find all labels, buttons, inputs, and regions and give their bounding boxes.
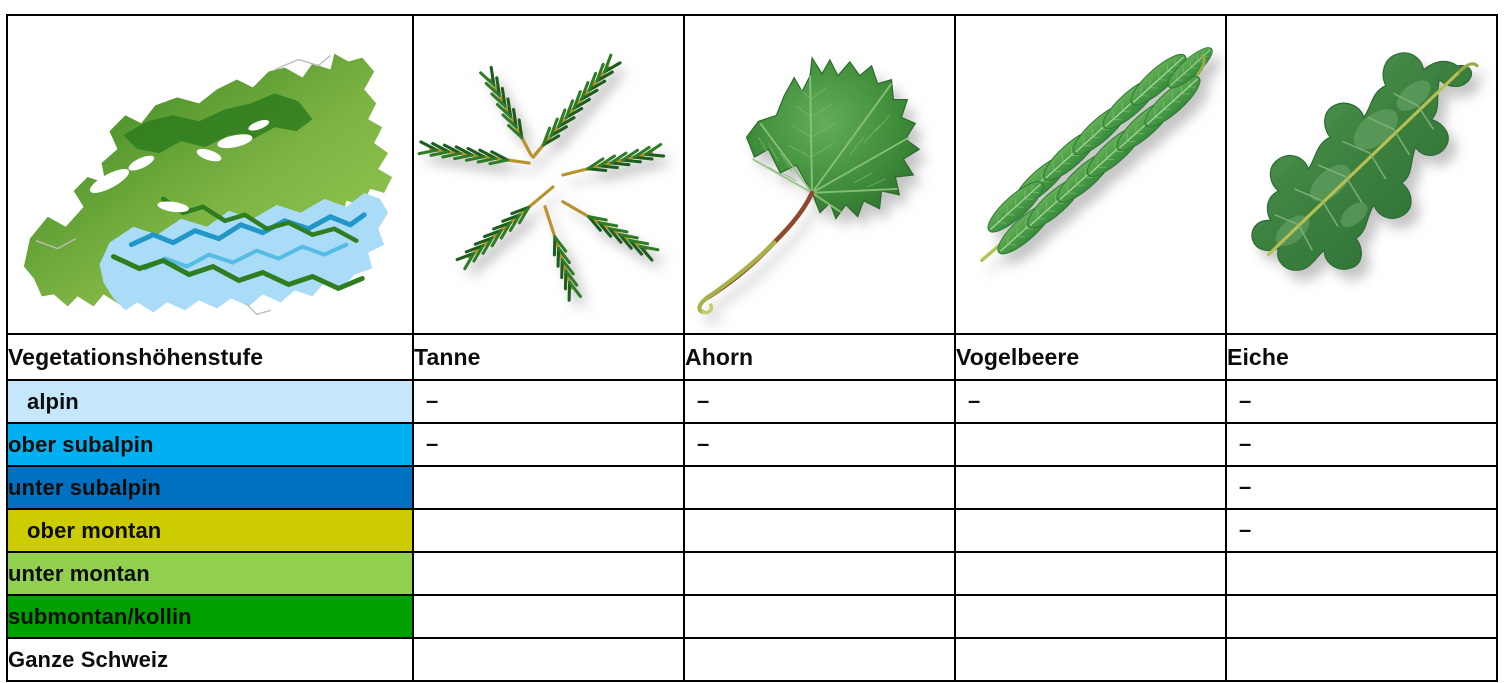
row-label-ober-subalpin: ober subalpin	[7, 423, 413, 466]
row-label-alpin: alpin	[7, 380, 413, 423]
cell-ganze-schweiz-vogelbeere	[955, 638, 1226, 681]
cell-submontan-ahorn	[684, 595, 955, 638]
column-header-eiche: Eiche	[1226, 334, 1497, 380]
cell-alpin-vogelbeere: –	[955, 380, 1226, 423]
row-label-submontan-kollin: submontan/kollin	[7, 595, 413, 638]
maple-leaf-image	[685, 17, 954, 332]
cell-ober-subalpin-tanne: –	[413, 423, 684, 466]
cell-ganze-schweiz-eiche	[1226, 638, 1497, 681]
table-row: Ganze Schweiz	[7, 638, 1497, 681]
dash-mark: –	[1239, 390, 1251, 412]
table-row: unter montan	[7, 552, 1497, 595]
table-row: submontan/kollin	[7, 595, 1497, 638]
fir-branch-image	[414, 17, 683, 332]
dash-mark: –	[426, 433, 438, 455]
cell-ganze-schweiz-tanne	[413, 638, 684, 681]
species-altitude-table: Vegetationshöhenstufe Tanne Ahorn Vogelb…	[6, 14, 1498, 682]
map-cell	[7, 15, 413, 334]
cell-alpin-ahorn: –	[684, 380, 955, 423]
illustration-row	[7, 15, 1497, 334]
row-label-ganze-schweiz: Ganze Schweiz	[7, 638, 413, 681]
cell-submontan-eiche	[1226, 595, 1497, 638]
cell-unter-subalpin-ahorn	[684, 466, 955, 509]
column-header-tanne: Tanne	[413, 334, 684, 380]
rowan-leaf-image	[956, 17, 1225, 332]
dash-mark: –	[426, 390, 438, 412]
column-header-ahorn: Ahorn	[684, 334, 955, 380]
cell-ober-subalpin-vogelbeere	[955, 423, 1226, 466]
cell-unter-montan-eiche	[1226, 552, 1497, 595]
row-header-label: Vegetationshöhenstufe	[7, 334, 413, 380]
cell-ober-montan-tanne	[413, 509, 684, 552]
cell-alpin-eiche: –	[1226, 380, 1497, 423]
column-header-row: Vegetationshöhenstufe Tanne Ahorn Vogelb…	[7, 334, 1497, 380]
fir-cell	[413, 15, 684, 334]
column-header-vogelbeere: Vogelbeere	[955, 334, 1226, 380]
cell-ober-montan-eiche: –	[1226, 509, 1497, 552]
cell-ganze-schweiz-ahorn	[684, 638, 955, 681]
dash-mark: –	[1239, 476, 1251, 498]
switzerland-elevation-map-image	[8, 17, 412, 332]
rowan-cell	[955, 15, 1226, 334]
cell-unter-subalpin-vogelbeere	[955, 466, 1226, 509]
vegetation-zone-matrix: Vegetationshöhenstufe Tanne Ahorn Vogelb…	[0, 0, 1504, 683]
dash-mark: –	[968, 390, 980, 412]
row-label-ober-montan: ober montan	[7, 509, 413, 552]
cell-unter-subalpin-eiche: –	[1226, 466, 1497, 509]
maple-cell	[684, 15, 955, 334]
cell-submontan-vogelbeere	[955, 595, 1226, 638]
dash-mark: –	[1239, 519, 1251, 541]
cell-ober-montan-vogelbeere	[955, 509, 1226, 552]
table-row: alpin – – – –	[7, 380, 1497, 423]
cell-unter-montan-ahorn	[684, 552, 955, 595]
cell-unter-montan-vogelbeere	[955, 552, 1226, 595]
dash-mark: –	[1239, 433, 1251, 455]
cell-unter-subalpin-tanne	[413, 466, 684, 509]
table-row: ober subalpin – – –	[7, 423, 1497, 466]
row-label-unter-montan: unter montan	[7, 552, 413, 595]
cell-ober-montan-ahorn	[684, 509, 955, 552]
oak-cell	[1226, 15, 1497, 334]
cell-submontan-tanne	[413, 595, 684, 638]
oak-leaf-image	[1227, 17, 1496, 332]
cell-ober-subalpin-ahorn: –	[684, 423, 955, 466]
table-row: ober montan –	[7, 509, 1497, 552]
table-row: unter subalpin –	[7, 466, 1497, 509]
row-label-unter-subalpin: unter subalpin	[7, 466, 413, 509]
dash-mark: –	[697, 433, 709, 455]
cell-alpin-tanne: –	[413, 380, 684, 423]
cell-unter-montan-tanne	[413, 552, 684, 595]
dash-mark: –	[697, 390, 709, 412]
cell-ober-subalpin-eiche: –	[1226, 423, 1497, 466]
